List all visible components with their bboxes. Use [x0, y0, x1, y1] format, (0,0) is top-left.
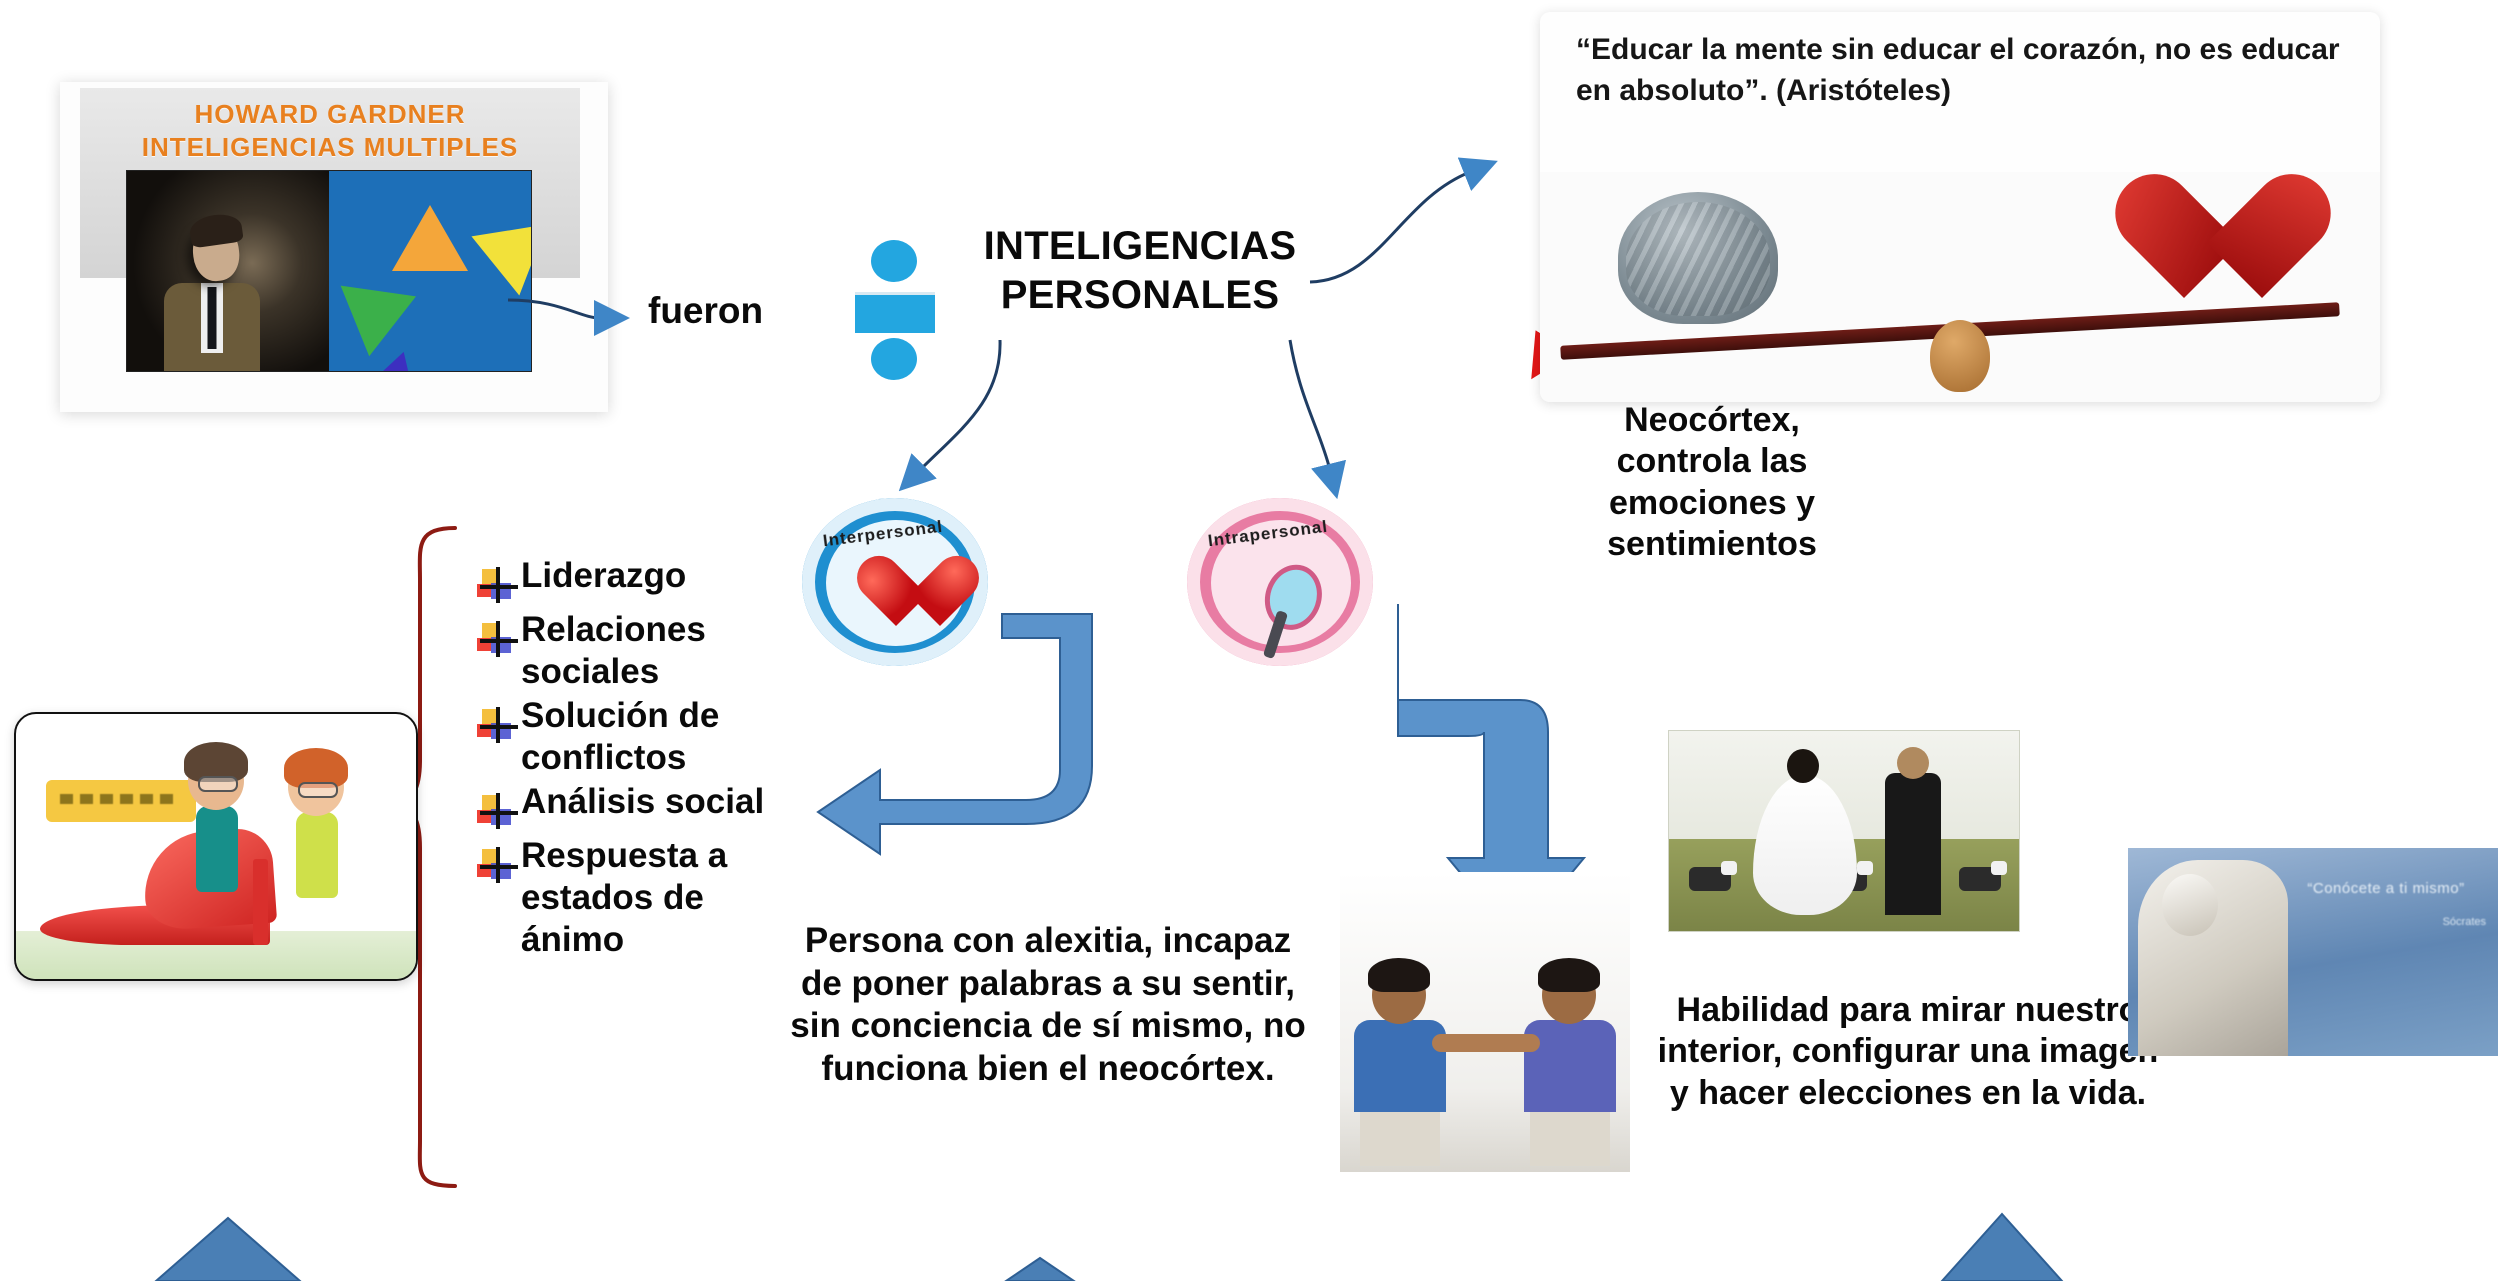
socrates-statue	[2138, 860, 2288, 1056]
balance-scale-image	[1540, 172, 2380, 402]
list-item-label: Liderazgo	[521, 555, 686, 597]
gardner-slide-title: HOWARD GARDNER INTELIGENCIAS MULTIPLES	[80, 88, 580, 163]
bullet-marker-icon	[477, 793, 521, 833]
division-sign-icon	[855, 240, 935, 380]
bullet-marker-icon	[477, 567, 521, 607]
page-title-line2: PERSONALES	[975, 271, 1305, 320]
aristotle-quote-card: “Educar la mente sin educar el corazón, …	[1540, 12, 2380, 402]
handshake-photo	[1340, 872, 1630, 1172]
gardner-title-line2: INTELIGENCIAS MULTIPLES	[80, 131, 580, 164]
high-heel-cartoon-image	[14, 712, 418, 981]
heart-object	[2110, 178, 2260, 318]
list-item: Liderazgo	[477, 555, 877, 607]
interpersonal-skills-list: Liderazgo Relaciones sociales Solución d…	[395, 515, 875, 1205]
connector-title-to-quote	[1310, 172, 1470, 282]
triangle-bottom-left	[156, 1218, 300, 1281]
bullet-marker-icon	[477, 707, 521, 747]
gardner-title-line1: HOWARD GARDNER	[80, 98, 580, 131]
groom-figure	[1885, 773, 1941, 915]
gardner-portrait	[127, 171, 329, 371]
list-item: Relaciones sociales	[477, 609, 877, 693]
handshake-person-left	[1346, 966, 1454, 1146]
connector-title-to-intrapersonal	[1290, 340, 1330, 470]
bullet-marker-icon	[477, 621, 521, 661]
bullet-marker-icon	[477, 847, 521, 887]
list-item: Solución de conflictos	[477, 695, 877, 779]
brain-object	[1618, 192, 1778, 324]
wedding-couple-photo	[1668, 730, 2020, 932]
skills-items: Liderazgo Relaciones sociales Solución d…	[477, 555, 877, 963]
page-title: INTELIGENCIAS PERSONALES	[975, 222, 1305, 320]
aristotle-quote-text: “Educar la mente sin educar el corazón, …	[1576, 30, 2346, 111]
scale-fulcrum	[1930, 320, 1990, 392]
triangle-bottom-center	[1006, 1258, 1074, 1281]
red-high-heel	[40, 827, 290, 945]
triangle-bottom-right	[1942, 1214, 2062, 1281]
intrapersonal-note: Habilidad para mirar nuestro interior, c…	[1648, 990, 2168, 1114]
list-item: Análisis social	[477, 781, 877, 833]
intelligences-wheel	[329, 171, 531, 371]
socrates-author: Sócrates	[2366, 916, 2486, 928]
socrates-quote: “Conócete a ti mismo”	[2286, 880, 2486, 897]
list-item-label: Relaciones sociales	[521, 609, 821, 693]
alexitimia-note: Persona con alexitia, incapaz de poner p…	[788, 920, 1308, 1091]
list-item-label: Análisis social	[521, 781, 764, 823]
badge-intrapersonal: Intrapersonal	[1175, 480, 1385, 670]
gardner-photo	[126, 170, 532, 372]
connector-label-fueron: fueron	[648, 288, 763, 333]
concept-map-canvas: HOWARD GARDNER INTELIGENCIAS MULTIPLES	[0, 0, 2518, 1281]
speech-bubble	[46, 780, 196, 822]
neocortex-note: Neocórtex, controla las emociones y sent…	[1562, 400, 1862, 566]
handshake-arms	[1432, 1034, 1540, 1052]
gardner-slide-image: HOWARD GARDNER INTELIGENCIAS MULTIPLES	[52, 60, 622, 450]
list-item-label: Respuesta a estados de ánimo	[521, 835, 761, 961]
list-item-label: Solución de conflictos	[521, 695, 821, 779]
handshake-person-right	[1516, 966, 1624, 1146]
socrates-statue-photo: “Conócete a ti mismo” Sócrates	[2128, 848, 2498, 1056]
page-title-line1: INTELIGENCIAS	[975, 222, 1305, 271]
